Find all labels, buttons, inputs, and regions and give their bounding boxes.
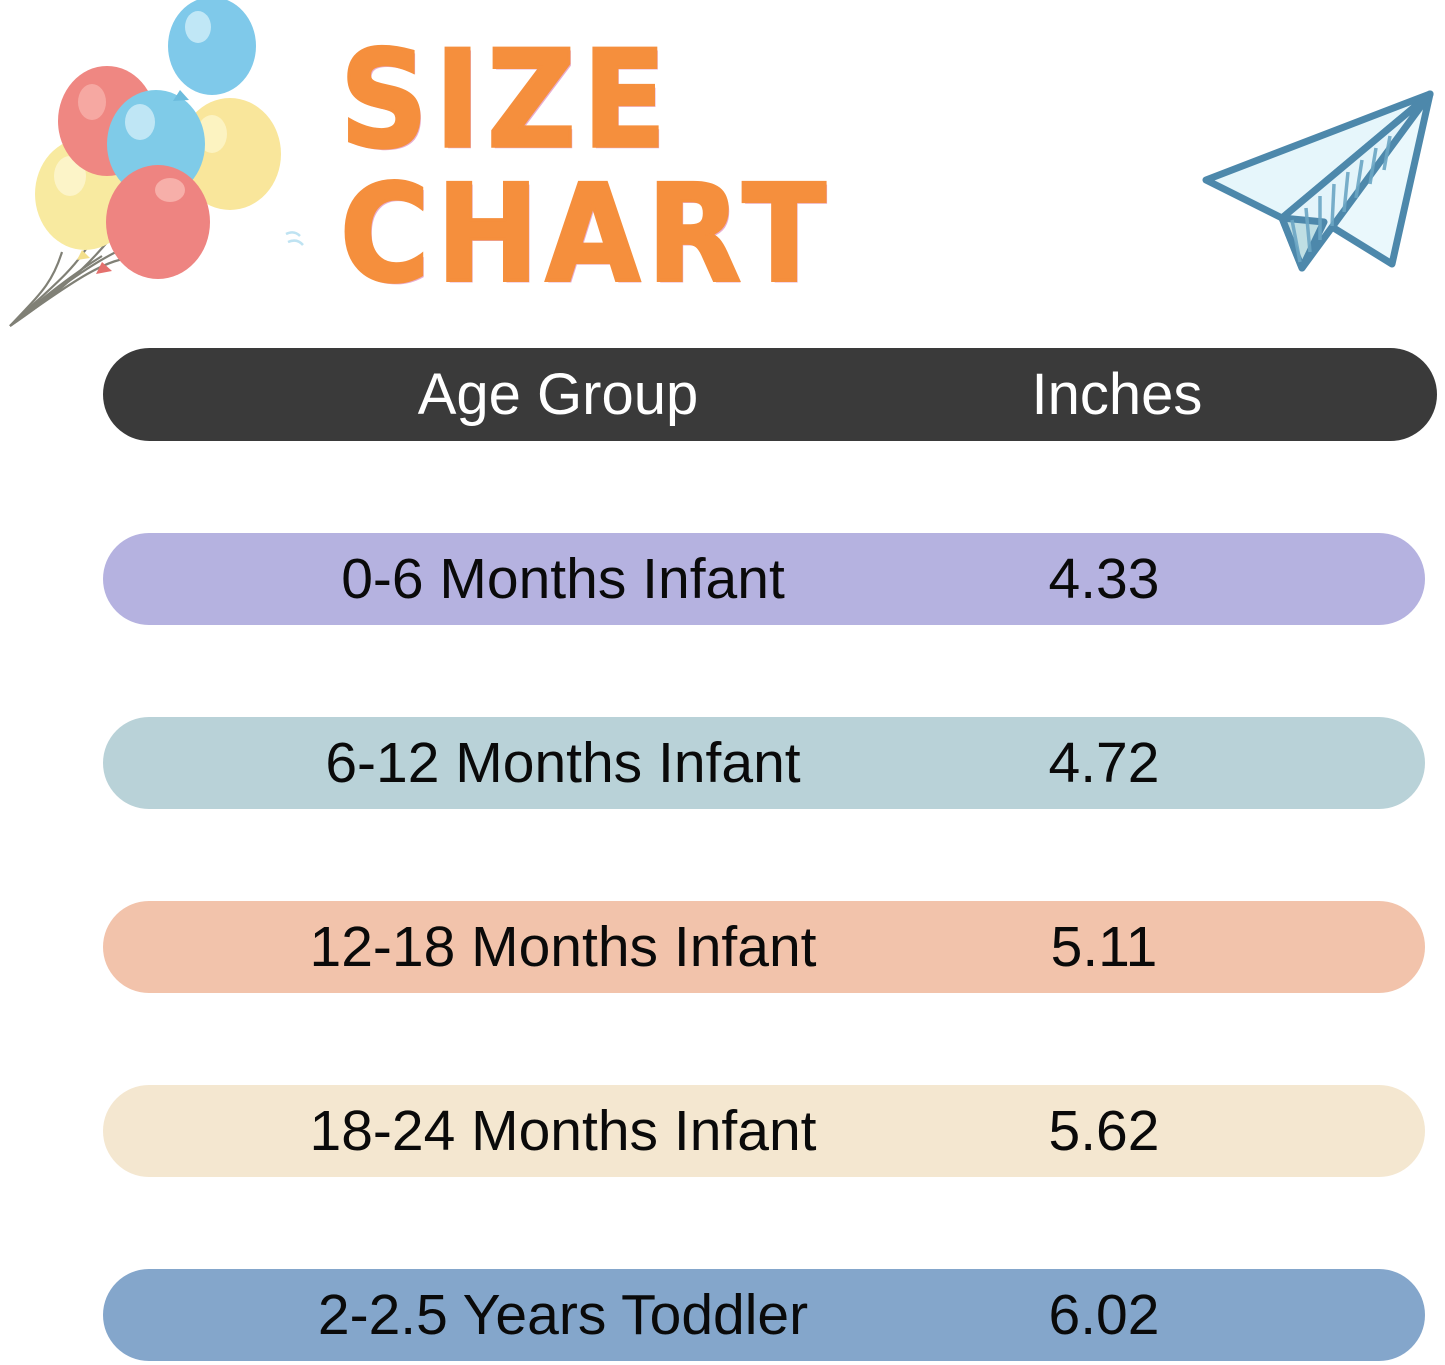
row-inches: 4.33 <box>1049 547 1160 611</box>
row-age-group: 2-2.5 Years Toddler <box>318 1283 808 1347</box>
page-title-text: SIZE CHART <box>340 33 1160 301</box>
balloons-icon <box>0 0 330 339</box>
table-row: 2-2.5 Years Toddler 6.02 <box>103 1269 1425 1361</box>
column-header-inches: Inches <box>893 361 1437 428</box>
table-row: 6-12 Months Infant 4.72 <box>103 717 1425 809</box>
row-age-group: 0-6 Months Infant <box>341 547 785 611</box>
row-inches: 4.72 <box>1049 731 1160 795</box>
row-age-group: 12-18 Months Infant <box>310 915 817 979</box>
row-age-group: 6-12 Months Infant <box>325 731 800 795</box>
size-chart-table: Age Group Inches 0-6 Months Infant 4.33 … <box>0 348 1445 1361</box>
row-age-group: 18-24 Months Infant <box>310 1099 817 1163</box>
paper-plane-icon <box>1186 72 1444 294</box>
table-row: 12-18 Months Infant 5.11 <box>103 901 1425 993</box>
row-inches: 5.11 <box>1051 915 1158 979</box>
row-inches: 6.02 <box>1049 1283 1160 1347</box>
column-header-age-group: Age Group <box>103 361 893 428</box>
table-header-row: Age Group Inches <box>103 348 1437 441</box>
table-row: 0-6 Months Infant 4.33 <box>103 533 1425 625</box>
page-title: SIZE CHART <box>340 92 1160 242</box>
row-inches: 5.62 <box>1049 1099 1160 1163</box>
size-chart-page: SIZE CHART Age Gr <box>0 0 1445 1365</box>
table-row: 18-24 Months Infant 5.62 <box>103 1085 1425 1177</box>
